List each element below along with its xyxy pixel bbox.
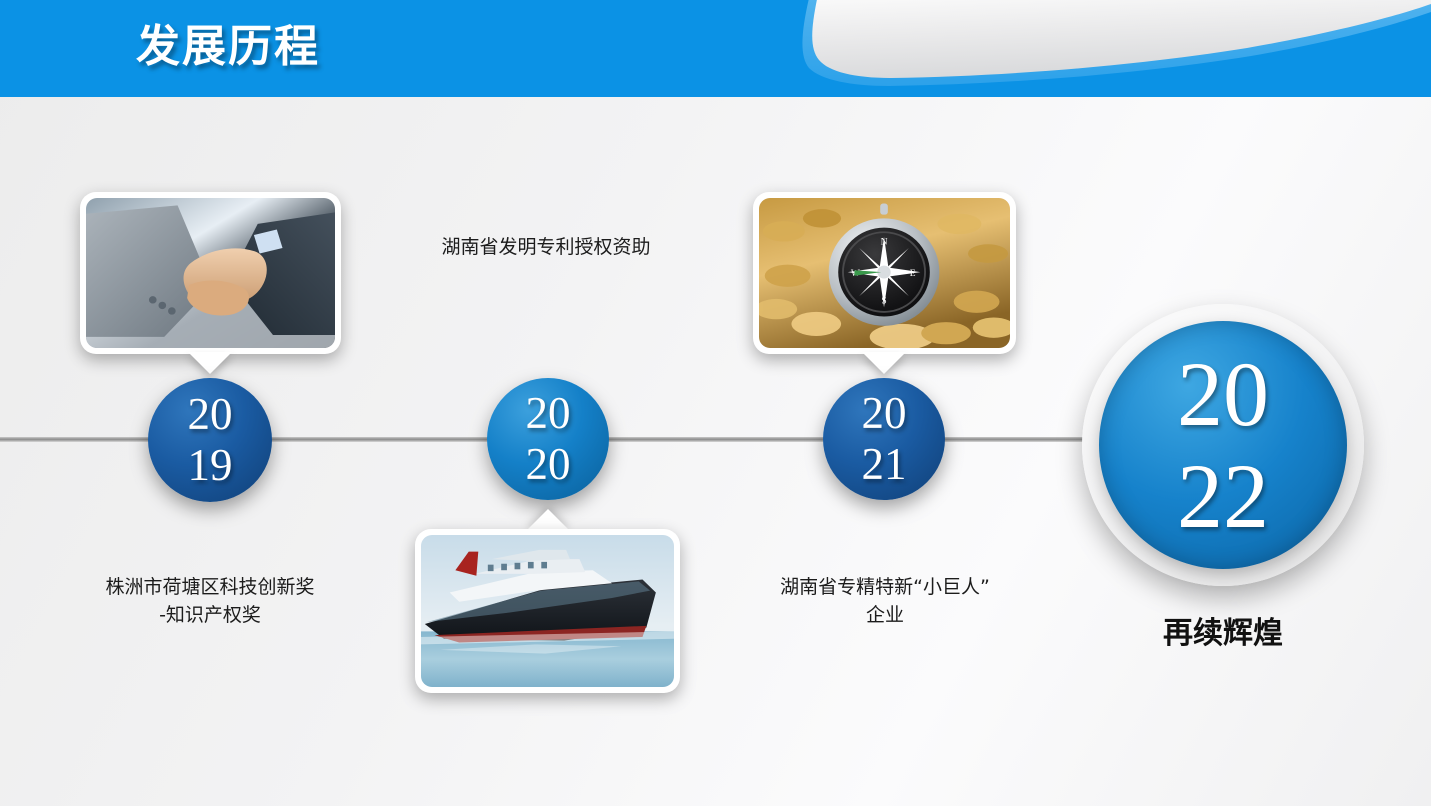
compass-icon: N S W E [759, 198, 1010, 348]
milestone-2019-year-bottom: 19 [188, 443, 233, 488]
milestone-2020-bubble-tail [526, 509, 570, 531]
milestone-2020-caption-line1: 湖南省发明专利授权资助 [396, 234, 696, 262]
milestone-2019-year-circle[interactable]: 20 19 [148, 378, 272, 502]
svg-text:S: S [881, 297, 886, 307]
milestone-2021-caption-line1: 湖南省专精特新“小巨人” [735, 574, 1035, 602]
milestone-2021-year-top: 20 [862, 391, 907, 436]
milestone-2020-year-bottom: 20 [526, 442, 571, 487]
milestone-2020-caption: 湖南省发明专利授权资助 [396, 234, 696, 262]
svg-text:N: N [881, 237, 888, 247]
milestone-2020-year-circle[interactable]: 20 20 [487, 378, 609, 500]
header-swoosh-decoration [691, 0, 1431, 97]
milestone-2021-year-circle[interactable]: 20 21 [823, 378, 945, 500]
milestone-2022-caption-line1: 再续辉煌 [1163, 616, 1283, 651]
milestone-2022-ring: 20 22 [1082, 304, 1364, 586]
milestone-2021-caption-line2: 企业 [735, 602, 1035, 630]
milestone-2021-caption: 湖南省专精特新“小巨人” 企业 [735, 574, 1035, 629]
slide-canvas: 发展历程 [0, 0, 1431, 806]
milestone-2019-photo-bubble[interactable] [80, 192, 341, 354]
milestone-2019-caption-line2: -知识产权奖 [60, 602, 360, 630]
svg-text:E: E [910, 269, 916, 279]
ship-icon [421, 535, 674, 687]
milestone-2019-year-top: 20 [188, 392, 233, 437]
milestone-2022-year-circle[interactable]: 20 22 [1099, 321, 1347, 569]
slide-header: 发展历程 [0, 0, 1431, 97]
milestone-2019-caption-line1: 株洲市荷塘区科技创新奖 [60, 574, 360, 602]
page-title: 发展历程 [136, 10, 320, 74]
milestone-2020-year-top: 20 [526, 391, 571, 436]
milestone-2021-photo-bubble[interactable]: N S W E [753, 192, 1016, 354]
milestone-2021-year-bottom: 21 [862, 442, 907, 487]
milestone-2021-bubble-tail [862, 352, 906, 374]
handshake-photo [86, 198, 335, 348]
milestone-2020-photo-bubble[interactable] [415, 529, 680, 693]
milestone-2019-bubble-tail [188, 352, 232, 374]
milestone-2019-caption: 株洲市荷塘区科技创新奖 -知识产权奖 [60, 574, 360, 629]
handshake-icon [86, 198, 335, 348]
cruise-ship-photo [421, 535, 674, 687]
milestone-2022-year-bottom: 22 [1177, 450, 1269, 542]
milestone-2022-year-top: 20 [1177, 348, 1269, 440]
compass-coins-photo: N S W E [759, 198, 1010, 348]
milestone-2022-caption: 再续辉煌 [1073, 608, 1373, 652]
